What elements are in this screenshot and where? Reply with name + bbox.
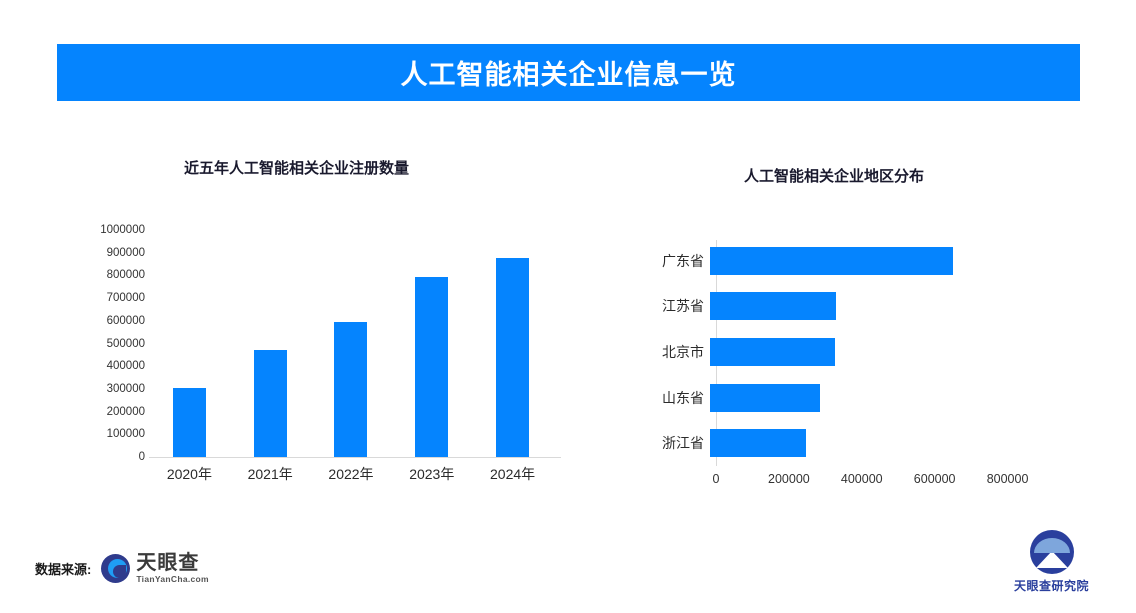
left-chart-y-tick: 1000000 (100, 224, 145, 236)
bar-北京市 (710, 338, 835, 366)
institute-emblem-icon (1030, 530, 1074, 574)
left-chart-bars (149, 230, 553, 457)
left-chart-x-tick: 2024年 (473, 464, 553, 484)
bar-广东省 (710, 247, 953, 275)
left-chart-y-tick: 600000 (107, 315, 145, 327)
right-chart-row: 山东省 (630, 384, 1050, 412)
right-chart-row: 广东省 (630, 247, 1050, 275)
left-chart-y-tick: 200000 (107, 406, 145, 418)
right-chart-row: 北京市 (630, 338, 1050, 366)
institute-logo: 天眼查研究院 (1004, 530, 1099, 594)
left-chart-bar-slot (311, 230, 391, 457)
right-chart-category-label: 山东省 (630, 388, 710, 408)
tianyancha-name-en: TianYanCha.com (136, 575, 209, 584)
left-chart-bar-slot (392, 230, 472, 457)
bar-山东省 (710, 384, 820, 412)
title-banner: 人工智能相关企业信息一览 (57, 44, 1080, 101)
bar-2024年 (496, 258, 529, 457)
tianyancha-wordmark: 天眼查 TianYanCha.com (136, 553, 209, 584)
page-title: 人工智能相关企业信息一览 (401, 53, 737, 92)
left-chart-baseline (149, 457, 561, 458)
right-chart-bar-track (710, 384, 1038, 412)
right-chart-bar-track (710, 429, 1038, 457)
right-chart-title: 人工智能相关企业地区分布 (744, 165, 924, 186)
bar-2022年 (334, 322, 367, 457)
right-chart-category-label: 浙江省 (630, 433, 710, 453)
left-chart-title: 近五年人工智能相关企业注册数量 (184, 157, 409, 178)
tianyancha-name-cn: 天眼查 (136, 553, 209, 573)
bar-浙江省 (710, 429, 806, 457)
bar-江苏省 (710, 292, 836, 320)
left-chart-y-axis: 1000000900000800000700000600000500000400… (85, 218, 145, 469)
left-chart-x-tick: 2021年 (230, 464, 310, 484)
region-distribution-bar-chart: 广东省江苏省北京市山东省浙江省 020000040000060000080000… (630, 238, 1050, 503)
registration-bar-chart: 1000000900000800000700000600000500000400… (85, 218, 565, 498)
left-chart-y-tick: 100000 (107, 428, 145, 440)
right-chart-x-tick: 0 (713, 472, 720, 486)
right-chart-row: 江苏省 (630, 292, 1050, 320)
left-chart-y-tick: 700000 (107, 292, 145, 304)
left-chart-x-tick: 2022年 (311, 464, 391, 484)
bar-2021年 (254, 350, 287, 457)
left-chart-y-tick: 300000 (107, 383, 145, 395)
left-chart-y-tick: 400000 (107, 360, 145, 372)
left-chart-y-tick: 900000 (107, 247, 145, 259)
infographic-page: 人工智能相关企业信息一览 近五年人工智能相关企业注册数量 10000009000… (0, 0, 1136, 613)
tianyancha-mark-icon (101, 554, 130, 583)
tianyancha-logo: 天眼查 TianYanCha.com (101, 553, 209, 584)
right-chart-category-label: 广东省 (630, 251, 710, 271)
bar-2023年 (415, 277, 448, 457)
left-chart-x-tick: 2020年 (149, 464, 229, 484)
right-chart-x-tick: 800000 (987, 472, 1029, 486)
data-source: 数据来源: 天眼查 TianYanCha.com (35, 553, 209, 584)
left-chart-x-tick: 2023年 (392, 464, 472, 484)
right-chart-bar-track (710, 338, 1038, 366)
left-chart-y-tick: 0 (139, 451, 145, 463)
left-chart-bar-slot (473, 230, 553, 457)
right-chart-category-label: 江苏省 (630, 296, 710, 316)
left-chart-y-tick: 800000 (107, 269, 145, 281)
right-chart-bars: 广东省江苏省北京市山东省浙江省 (630, 238, 1050, 466)
right-chart-bar-track (710, 292, 1038, 320)
left-chart-bar-slot (149, 230, 229, 457)
right-chart-x-axis: 0200000400000600000800000 (716, 472, 1046, 492)
institute-name: 天眼查研究院 (1014, 577, 1089, 594)
left-chart-x-axis: 2020年2021年2022年2023年2024年 (149, 464, 553, 484)
bar-2020年 (173, 388, 206, 457)
right-chart-x-tick: 400000 (841, 472, 883, 486)
data-source-label: 数据来源: (35, 559, 91, 578)
right-chart-bar-track (710, 247, 1038, 275)
right-chart-category-label: 北京市 (630, 342, 710, 362)
left-chart-bar-slot (230, 230, 310, 457)
right-chart-x-tick: 600000 (914, 472, 956, 486)
left-chart-y-tick: 500000 (107, 338, 145, 350)
right-chart-row: 浙江省 (630, 429, 1050, 457)
right-chart-x-tick: 200000 (768, 472, 810, 486)
